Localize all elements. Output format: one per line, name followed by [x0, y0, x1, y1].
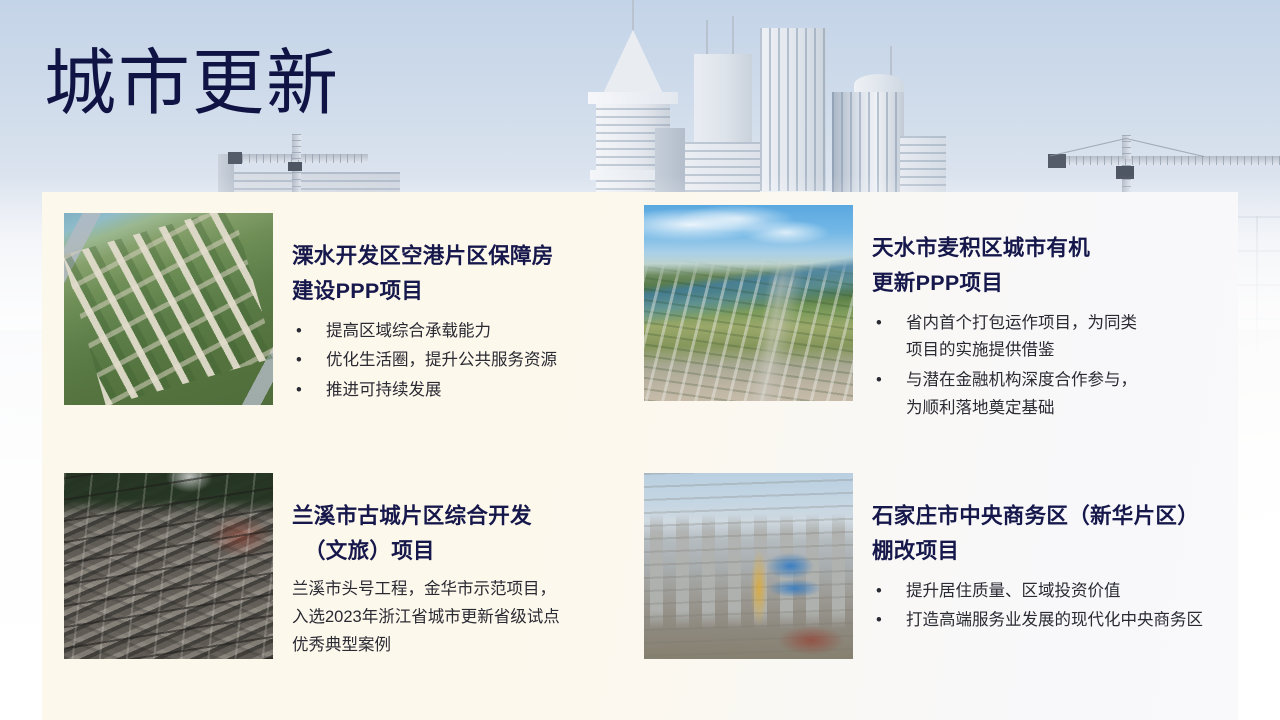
card-body: 兰溪市古城片区综合开发 （文旅）项目 兰溪市头号工程，金华市示范项目， 入选20…	[292, 473, 560, 659]
card-title-line: 棚改项目	[872, 534, 1203, 569]
card-paragraph: 兰溪市头号工程，金华市示范项目， 入选2023年浙江省城市更新省级试点 优秀典型…	[292, 575, 560, 659]
card-title-line: 兰溪市古城片区综合开发	[292, 499, 560, 534]
list-item: • 提高区域综合承载能力	[292, 318, 557, 346]
card-title-line: 溧水开发区空港片区保障房	[292, 239, 557, 274]
card-title-line: 建设PPP项目	[292, 274, 557, 309]
list-item-text: 提高区域综合承载能力	[326, 318, 557, 346]
list-item-text: 与潜在金融机构深度合作参与， 为顺利落地奠定基础	[906, 367, 1137, 422]
bullet-dot-icon: •	[292, 377, 326, 405]
project-card-4[interactable]: 石家庄市中央商务区（新华片区） 棚改项目 • 提升居住质量、区域投资价值 • 打…	[644, 473, 1203, 659]
card-body: 石家庄市中央商务区（新华片区） 棚改项目 • 提升居住质量、区域投资价值 • 打…	[872, 473, 1203, 659]
project-card-2[interactable]: 天水市麦积区城市有机 更新PPP项目 • 省内首个打包运作项目，为同类 项目的实…	[644, 205, 1137, 425]
ancient-town-rooftops-photo	[64, 473, 273, 659]
river-valley-cityscape-photo	[644, 205, 853, 401]
bullet-list: • 提升居住质量、区域投资价值 • 打造高端服务业发展的现代化中央商务区	[872, 578, 1203, 635]
list-item: • 省内首个打包运作项目，为同类 项目的实施提供借鉴	[872, 310, 1137, 365]
bullet-dot-icon: •	[292, 318, 326, 346]
list-item-line: 为顺利落地奠定基础	[906, 395, 1137, 423]
card-title: 溧水开发区空港片区保障房 建设PPP项目	[292, 239, 557, 309]
project-card-3[interactable]: 兰溪市古城片区综合开发 （文旅）项目 兰溪市头号工程，金华市示范项目， 入选20…	[64, 473, 560, 659]
list-item: • 与潜在金融机构深度合作参与， 为顺利落地奠定基础	[872, 367, 1137, 422]
list-item: • 打造高端服务业发展的现代化中央商务区	[872, 607, 1203, 635]
project-card-1[interactable]: 溧水开发区空港片区保障房 建设PPP项目 • 提高区域综合承载能力 • 优化生活…	[64, 213, 557, 407]
list-item-text: 优化生活圈，提升公共服务资源	[326, 347, 557, 375]
list-item-text: 省内首个打包运作项目，为同类 项目的实施提供借鉴	[906, 310, 1137, 365]
bullet-dot-icon: •	[292, 347, 326, 375]
list-item-line: 省内首个打包运作项目，为同类	[906, 314, 1137, 332]
card-title-line: 更新PPP项目	[872, 266, 1137, 301]
bullet-list: • 提高区域综合承载能力 • 优化生活圈，提升公共服务资源 • 推进可持续发展	[292, 318, 557, 405]
content-panel: 溧水开发区空港片区保障房 建设PPP项目 • 提高区域综合承载能力 • 优化生活…	[42, 192, 1238, 720]
list-item-text: 提升居住质量、区域投资价值	[906, 578, 1203, 606]
bullet-dot-icon: •	[872, 367, 906, 395]
aerial-residential-compound-photo	[64, 213, 273, 405]
card-body: 溧水开发区空港片区保障房 建设PPP项目 • 提高区域综合承载能力 • 优化生活…	[292, 213, 557, 407]
bullet-dot-icon: •	[872, 607, 906, 635]
card-body: 天水市麦积区城市有机 更新PPP项目 • 省内首个打包运作项目，为同类 项目的实…	[872, 205, 1137, 425]
card-title: 天水市麦积区城市有机 更新PPP项目	[872, 231, 1137, 301]
list-item-line: 与潜在金融机构深度合作参与，	[906, 371, 1137, 389]
card-title: 兰溪市古城片区综合开发 （文旅）项目	[292, 499, 560, 569]
list-item-text: 推进可持续发展	[326, 377, 557, 405]
paragraph-line: 入选2023年浙江省城市更新省级试点	[292, 603, 560, 631]
list-item: • 提升居住质量、区域投资价值	[872, 578, 1203, 606]
paragraph-line: 优秀典型案例	[292, 631, 560, 659]
card-title-line: 天水市麦积区城市有机	[872, 231, 1137, 266]
list-item-line: 项目的实施提供借鉴	[906, 337, 1137, 365]
list-item: • 推进可持续发展	[292, 377, 557, 405]
list-item-text: 打造高端服务业发展的现代化中央商务区	[906, 607, 1203, 635]
page-title: 城市更新	[44, 46, 340, 122]
cards-grid: 溧水开发区空港片区保障房 建设PPP项目 • 提高区域综合承载能力 • 优化生活…	[42, 192, 1238, 720]
highrise-construction-site-photo	[644, 473, 853, 659]
card-title-line: （文旅）项目	[292, 534, 560, 569]
slide-canvas: 城市更新 溧水开发区空港片区保障房 建设PPP项目 • 提高区域综合承载能力	[0, 0, 1280, 720]
list-item: • 优化生活圈，提升公共服务资源	[292, 347, 557, 375]
bullet-dot-icon: •	[872, 310, 906, 338]
paragraph-line: 兰溪市头号工程，金华市示范项目，	[292, 575, 560, 603]
card-title-line: 石家庄市中央商务区（新华片区）	[872, 499, 1203, 534]
bullet-list: • 省内首个打包运作项目，为同类 项目的实施提供借鉴 • 与潜在金融机构深度合作…	[872, 310, 1137, 423]
card-title: 石家庄市中央商务区（新华片区） 棚改项目	[872, 499, 1203, 569]
bullet-dot-icon: •	[872, 578, 906, 606]
